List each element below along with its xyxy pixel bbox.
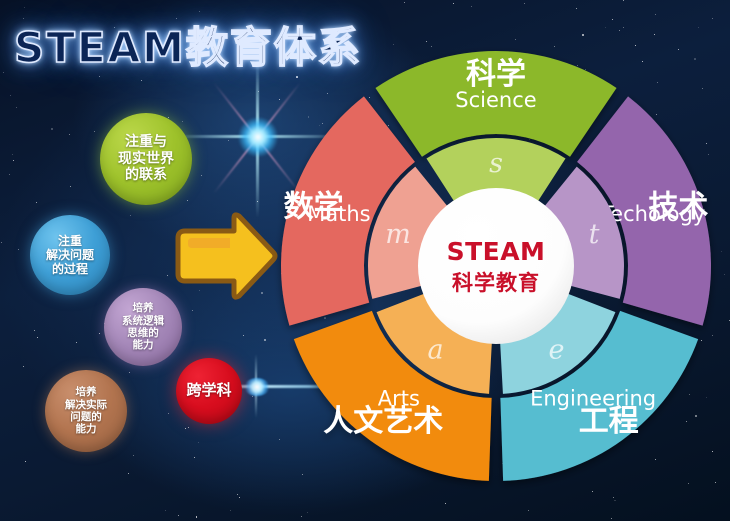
poster-canvas: STEAM教育体系 注重与 现实世界 的联系 注重 解决问题 的过程 培养 系统… (0, 0, 730, 521)
bubble-real-world[interactable]: 注重与 现实世界 的联系 (100, 113, 192, 205)
bubble-interdisciplinary[interactable]: 跨学科 (176, 358, 242, 424)
ring-letter-engineering: e (549, 334, 565, 365)
ring-letter-science: s (489, 148, 503, 179)
bubble-line: 能力 (133, 339, 154, 351)
bubble-practical-problem[interactable]: 培养 解决实际 问题的 能力 (45, 370, 127, 452)
hub-circle (418, 188, 574, 344)
segment-label-cn-science: 科学 (466, 57, 526, 92)
bubble-line: 问题的 (70, 411, 102, 423)
segment-label-cn-technology: 技术 (648, 190, 708, 225)
ring-letter-technology: t (589, 219, 600, 250)
segment-label-cn-arts: 人文艺术 (323, 404, 443, 439)
bubble-systems-logic[interactable]: 培养 系统逻辑 思维的 能力 (104, 288, 182, 366)
bubble-line: 解决问题 (46, 248, 94, 262)
bubble-line: 的联系 (125, 167, 167, 184)
bubble-line: 跨学科 (186, 382, 231, 400)
segment-label-cn-maths: 数学 (284, 190, 344, 225)
ring-letter-maths: m (385, 219, 411, 250)
bubble-line: 培养 (76, 386, 97, 398)
hub-label-en: STEAM (447, 237, 546, 266)
steam-wheel: Science科学Techology技术Engineering工程Arts人文艺… (268, 38, 724, 494)
bubble-line: 能力 (76, 423, 97, 435)
arrow-right-icon (172, 212, 280, 300)
bubble-line: 解决实际 (65, 399, 107, 411)
bubble-line: 注重 (58, 234, 82, 248)
bubble-line: 培养 (133, 302, 154, 314)
hub-label-cn: 科学教育 (452, 271, 540, 295)
bubble-problem-process[interactable]: 注重 解决问题 的过程 (30, 215, 110, 295)
bubble-line: 的过程 (52, 262, 88, 276)
bubble-line: 思维的 (127, 327, 159, 339)
bubble-line: 注重与 (125, 134, 167, 151)
bubble-line: 系统逻辑 (122, 315, 164, 327)
ring-letter-arts: a (427, 334, 443, 365)
segment-label-cn-engineering: 工程 (579, 404, 639, 439)
bubble-line: 现实世界 (118, 151, 174, 168)
